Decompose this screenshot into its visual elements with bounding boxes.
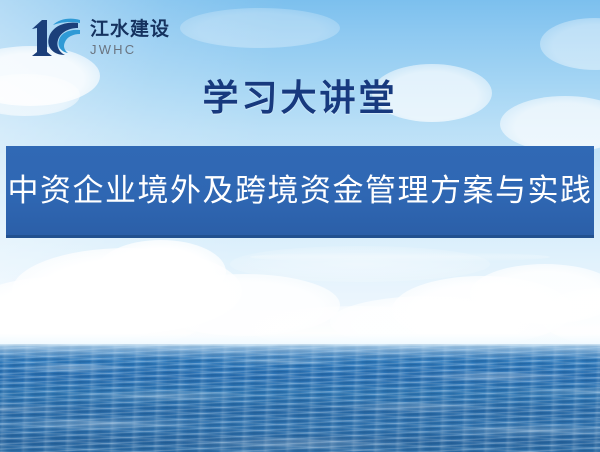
wave-highlights xyxy=(0,344,600,452)
sea-background xyxy=(0,344,600,452)
jwhc-wave-monogram-icon xyxy=(28,16,82,60)
topic-banner-title: 中资企业境外及跨境资金管理方案与实践 xyxy=(8,175,593,206)
wave-texture-cross xyxy=(0,344,600,452)
wave-texture-primary xyxy=(0,344,600,452)
company-logo: 江水建设 JWHC xyxy=(28,14,188,62)
logo-wordmark: 江水建设 JWHC xyxy=(90,20,170,56)
presentation-poster: 江水建设 JWHC 学习大讲堂 中资企业境外及跨境资金管理方案与实践 xyxy=(0,0,600,452)
topic-banner: 中资企业境外及跨境资金管理方案与实践 xyxy=(6,146,594,238)
sea-distance-fade xyxy=(0,344,600,360)
logo-company-name-cn: 江水建设 xyxy=(90,20,170,39)
horizon-glow xyxy=(0,318,600,344)
page-title: 学习大讲堂 xyxy=(0,78,600,118)
logo-company-name-en: JWHC xyxy=(90,43,170,56)
wave-texture-secondary xyxy=(0,344,600,452)
